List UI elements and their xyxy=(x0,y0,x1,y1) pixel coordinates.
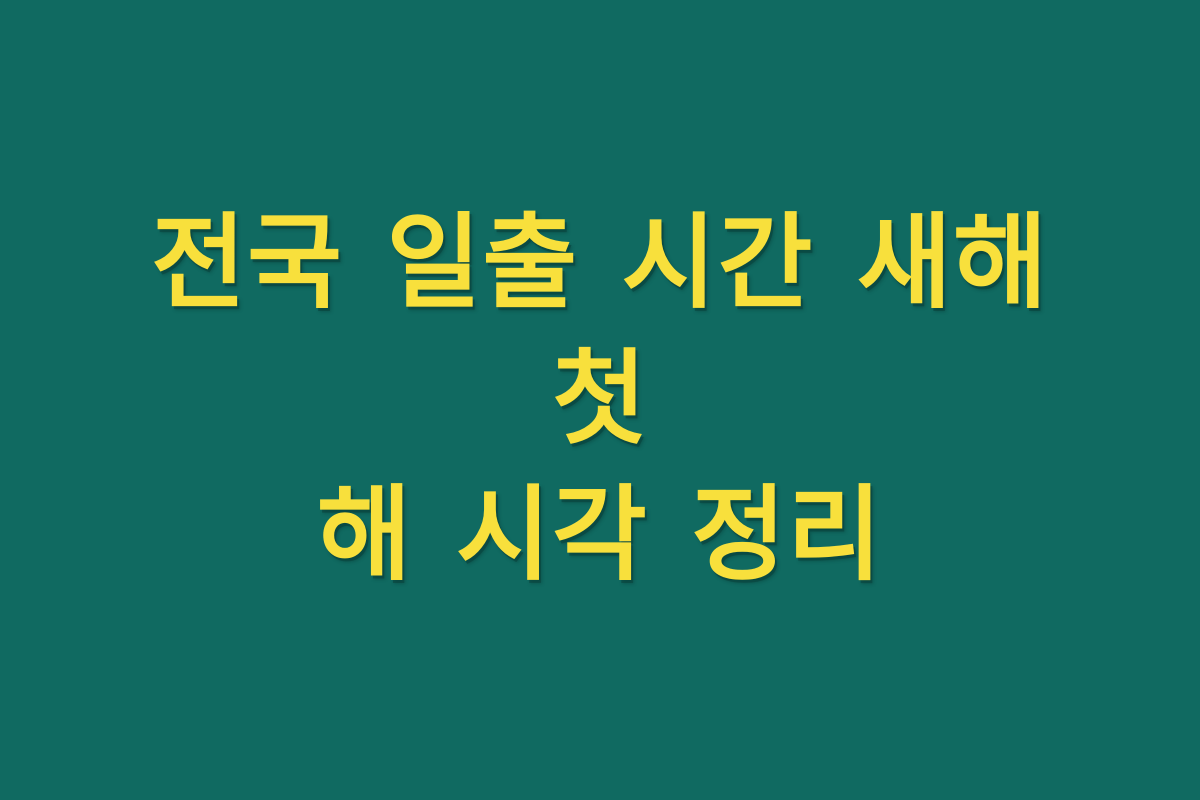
page-title: 전국 일출 시간 새해 첫 해 시각 정리 xyxy=(105,196,1095,604)
title-card: 전국 일출 시간 새해 첫 해 시각 정리 xyxy=(0,0,1200,800)
headline-block: 전국 일출 시간 새해 첫 해 시각 정리 xyxy=(95,196,1105,604)
